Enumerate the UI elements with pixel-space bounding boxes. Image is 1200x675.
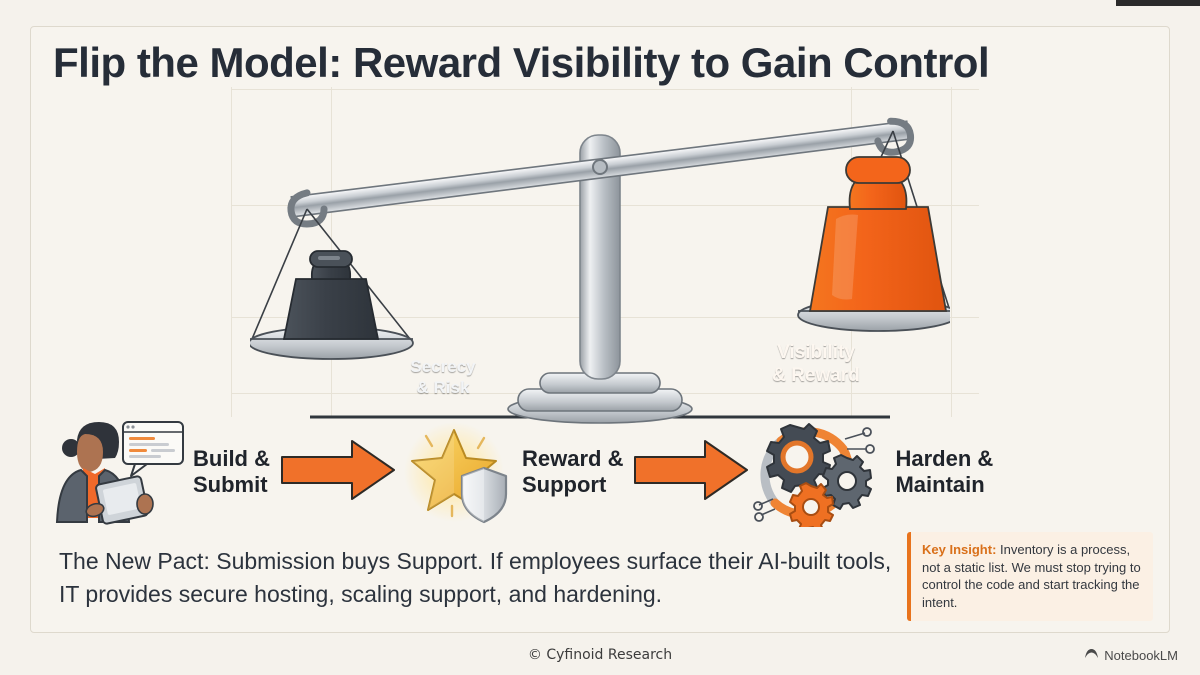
gears-circuit-icon (753, 417, 889, 527)
process-flow: Build & Submit (47, 417, 1153, 527)
page-title: Flip the Model: Reward Visibility to Gai… (53, 41, 1147, 85)
right-arrow-icon-1 (280, 439, 396, 506)
right-arrow-icon-2 (633, 439, 749, 506)
key-insight-box: Key Insight: Inventory is a process, not… (907, 532, 1153, 621)
notebooklm-logo-icon (1084, 647, 1099, 663)
pact-text: The New Pact: Submission buys Support. I… (59, 545, 899, 610)
flow-label-harden-maintain: Harden & Maintain (895, 446, 993, 498)
star-shield-icon (400, 420, 516, 524)
balance-scale-illustration: Secrecy & Risk Visibility & Reward (31, 99, 1169, 419)
key-insight-label: Key Insight: (922, 542, 996, 557)
copyright-text: © Cyfinoid Research (0, 647, 1200, 663)
notebooklm-badge: NotebookLM (1084, 647, 1178, 663)
slide-canvas: Flip the Model: Reward Visibility to Gai… (0, 0, 1200, 675)
top-right-notch (1116, 0, 1200, 6)
notebooklm-label: NotebookLM (1104, 648, 1178, 663)
slide-frame: Flip the Model: Reward Visibility to Gai… (30, 26, 1170, 633)
person-with-tablet-icon (47, 418, 187, 526)
flow-label-build-submit: Build & Submit (193, 446, 270, 498)
flow-label-reward-support: Reward & Support (522, 446, 623, 498)
